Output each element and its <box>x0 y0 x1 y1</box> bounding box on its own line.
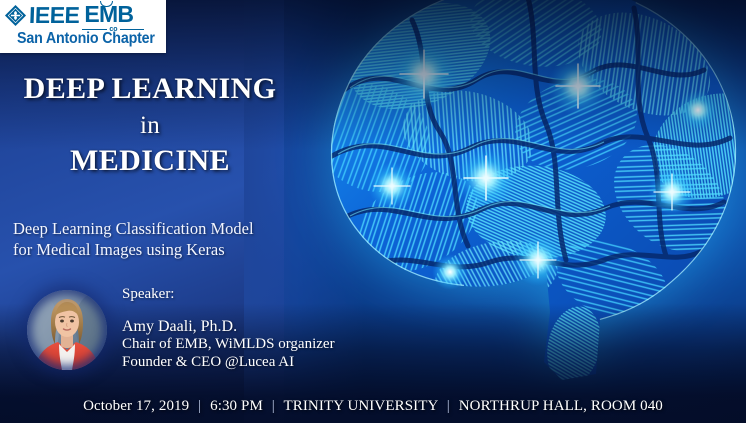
footer-separator-2: | <box>267 398 280 414</box>
talk-subtitle: Deep Learning Classification Model for M… <box>13 218 313 261</box>
event-venue: TRINITY UNIVERSITY <box>283 398 437 414</box>
event-date: October 17, 2019 <box>83 398 189 414</box>
ieee-diamond-icon <box>4 4 27 27</box>
title-line-2: in <box>0 113 300 138</box>
event-details-bar: October 17, 2019 | 6:30 PM | TRINITY UNI… <box>0 398 746 415</box>
speaker-label: Speaker: <box>122 286 174 303</box>
chapter-name: San Antonio Chapter <box>17 30 155 48</box>
subtitle-line-2: for Medical Images using Keras <box>13 239 313 260</box>
emb-wordmark-block: EMB co <box>84 3 133 27</box>
title-line-1: DEEP LEARNING <box>0 74 300 104</box>
logo-wordmark-row: IEEE EMB co <box>4 3 133 27</box>
page-title: DEEP LEARNING in MEDICINE <box>0 74 300 176</box>
event-room: NORTHRUP HALL, ROOM 040 <box>459 398 663 414</box>
speaker-role: Chair of EMB, WiMLDS organizer <box>122 336 335 354</box>
ieee-emb-logo: IEEE EMB co San Antonio Chapter <box>0 0 166 53</box>
background-vignette <box>0 0 746 423</box>
footer-separator-1: | <box>193 398 206 414</box>
subtitle-line-1: Deep Learning Classification Model <box>13 218 313 239</box>
speaker-name: Amy Daali, Ph.D. <box>122 317 335 336</box>
footer-separator-3: | <box>442 398 455 414</box>
speaker-affiliation: Founder & CEO @Lucea AI <box>122 354 335 372</box>
event-poster: IEEE EMB co San Antonio Chapter DEEP LEA… <box>0 0 746 423</box>
title-line-3: MEDICINE <box>0 146 300 176</box>
avatar <box>27 290 107 370</box>
speaker-details: Amy Daali, Ph.D. Chair of EMB, WiMLDS or… <box>122 317 335 372</box>
event-time: 6:30 PM <box>210 398 263 414</box>
ieee-wordmark: IEEE <box>29 4 80 27</box>
